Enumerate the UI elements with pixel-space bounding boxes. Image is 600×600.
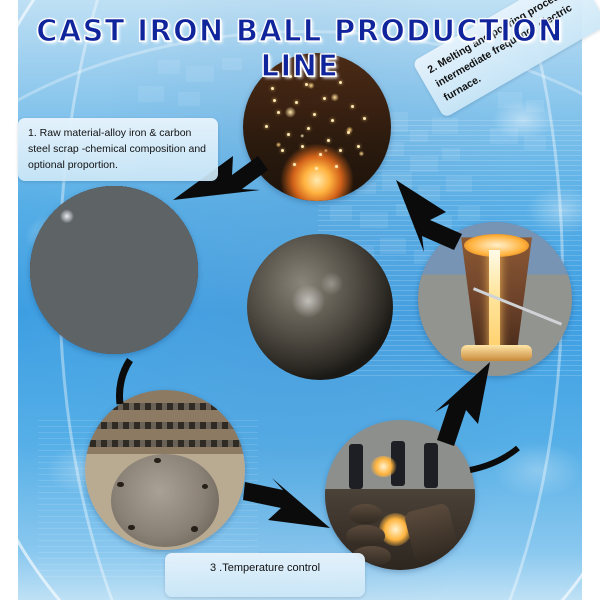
step-3-label: 3 .Temperature control bbox=[165, 553, 365, 597]
arrow-mold-to-scrap bbox=[119, 360, 130, 404]
poster-canvas: CAST IRON BALL PRODUCTION LINE bbox=[0, 0, 600, 600]
arrow-workers-to-mold bbox=[243, 478, 330, 528]
arrow-pour-to-workers bbox=[435, 362, 490, 446]
poster-title: CAST IRON BALL PRODUCTION LINE bbox=[12, 14, 588, 84]
process-flow-arrows bbox=[0, 0, 600, 600]
arrow-furnace-to-pour bbox=[396, 180, 462, 252]
step-1-label: 1. Raw material-alloy iron & carbon stee… bbox=[18, 118, 218, 181]
connector-line-right bbox=[470, 448, 518, 470]
